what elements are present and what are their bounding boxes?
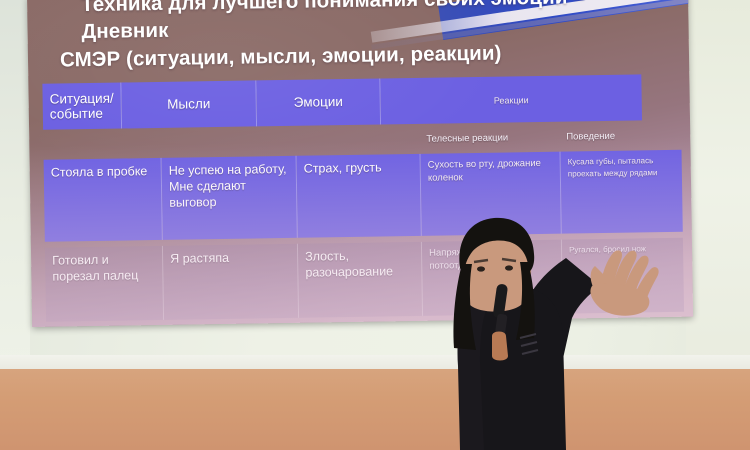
header-reactions: Реакции: [380, 74, 642, 124]
cell-situation: Стояла в пробке: [44, 158, 163, 242]
header-thoughts: Мысли: [121, 80, 257, 128]
slide-title: Техника для лучшего понимания своих эмоц…: [59, 0, 672, 73]
cell-thoughts-text: Я растяпа: [170, 251, 229, 266]
cell-emotions: Страх, грусть: [297, 154, 422, 238]
cell-bodily: Сухость во рту, дрожание коленок: [421, 152, 562, 236]
cell-emotions: Злость, разочарование: [298, 242, 423, 318]
smer-table: Ситуация/ событие Мысли Эмоции Реакции: [42, 74, 684, 327]
wall-left-strip: [0, 0, 30, 372]
wall-right-strip: [686, 0, 750, 372]
header-thoughts-label: Мысли: [167, 96, 210, 112]
table-header-row: Ситуация/ событие Мысли Эмоции Реакции: [42, 74, 681, 130]
table-row: Стояла в пробке Не успею на работу, Мне …: [44, 150, 683, 242]
header-reactions-label: Реакции: [494, 95, 529, 106]
cell-behavior-text: Кусала губы, пыталась проехать между ряд…: [568, 156, 658, 178]
subheader-spacer: [43, 130, 420, 155]
cell-thoughts-text: Не успею на работу, Мне сделают выговор: [169, 162, 287, 210]
slide: Техника для лучшего понимания своих эмоц…: [27, 0, 693, 327]
subheader-bodily: Телесные реакции: [420, 128, 560, 149]
header-emotions-label: Эмоции: [294, 94, 343, 110]
cell-situation-text: Готовил и порезал палец: [52, 253, 138, 284]
cell-thoughts: Не успею на работу, Мне сделают выговор: [162, 156, 298, 240]
presentation-photo: Техника для лучшего понимания своих эмоц…: [0, 0, 750, 450]
subheader-bodily-label: Телесные реакции: [426, 132, 508, 144]
wall-lower: [0, 369, 750, 450]
cell-behavior-text: Ругался, бросил нож: [569, 244, 646, 254]
table-row: Готовил и порезал палец Я растяпа Злость…: [45, 238, 684, 322]
cell-situation-text: Стояла в пробке: [51, 164, 148, 180]
subheader-behavior: Поведение: [560, 126, 681, 147]
header-situation: Ситуация/ событие: [42, 83, 122, 130]
cell-emotions-text: Злость, разочарование: [305, 249, 393, 280]
header-situation-label: Ситуация/ событие: [49, 90, 114, 121]
cell-bodily: Напряжение мышц, потоотделение: [422, 240, 563, 316]
cell-behavior: Ругался, бросил нож: [562, 238, 684, 314]
header-emotions: Эмоции: [256, 78, 381, 126]
cell-situation: Готовил и порезал палец: [45, 246, 164, 322]
cell-emotions-text: Страх, грусть: [304, 160, 382, 175]
projection-screen: Техника для лучшего понимания своих эмоц…: [27, 0, 693, 327]
cell-bodily-text: Сухость во рту, дрожание коленок: [428, 158, 541, 184]
cell-behavior: Кусала губы, пыталась проехать между ряд…: [561, 150, 683, 234]
subheader-behavior-label: Поведение: [566, 131, 615, 143]
cell-bodily-text: Напряжение мышц, потоотделение: [429, 246, 516, 272]
cell-thoughts: Я растяпа: [163, 244, 299, 320]
